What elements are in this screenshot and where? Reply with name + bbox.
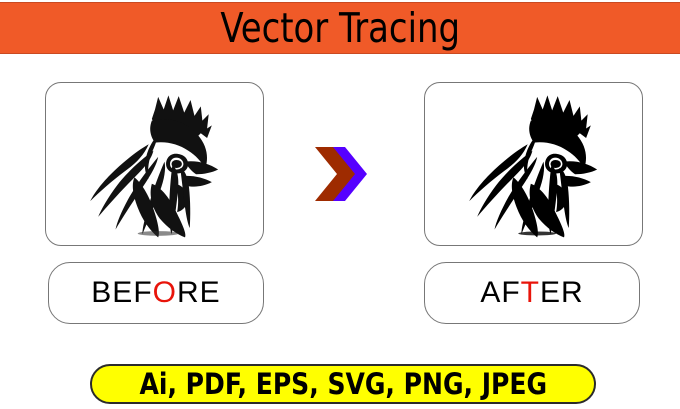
rooster-head-logo-vector-icon xyxy=(454,89,614,239)
double-chevron-right-icon xyxy=(311,143,371,205)
after-image-card[interactable] xyxy=(424,82,643,246)
after-label-prefix: AF xyxy=(480,276,520,309)
before-label-prefix: BEF xyxy=(91,276,152,309)
after-label-box[interactable]: AFTER xyxy=(424,262,640,324)
before-label-suffix: RE xyxy=(177,276,221,309)
before-label-text: BEFORE xyxy=(91,276,220,310)
page-title: Vector Tracing xyxy=(220,8,460,49)
header-banner: Vector Tracing xyxy=(0,2,680,54)
rooster-head-logo-raster-icon xyxy=(75,89,235,239)
before-label-accent: O xyxy=(153,276,177,309)
before-label-box[interactable]: BEFORE xyxy=(48,262,264,324)
before-image-card[interactable] xyxy=(45,82,264,246)
after-label-accent: T xyxy=(521,276,540,309)
formats-pill[interactable]: Ai, PDF, EPS, SVG, PNG, JPEG xyxy=(90,364,596,404)
after-label-suffix: ER xyxy=(540,276,584,309)
formats-text: Ai, PDF, EPS, SVG, PNG, JPEG xyxy=(139,367,547,401)
after-label-text: AFTER xyxy=(480,276,583,310)
